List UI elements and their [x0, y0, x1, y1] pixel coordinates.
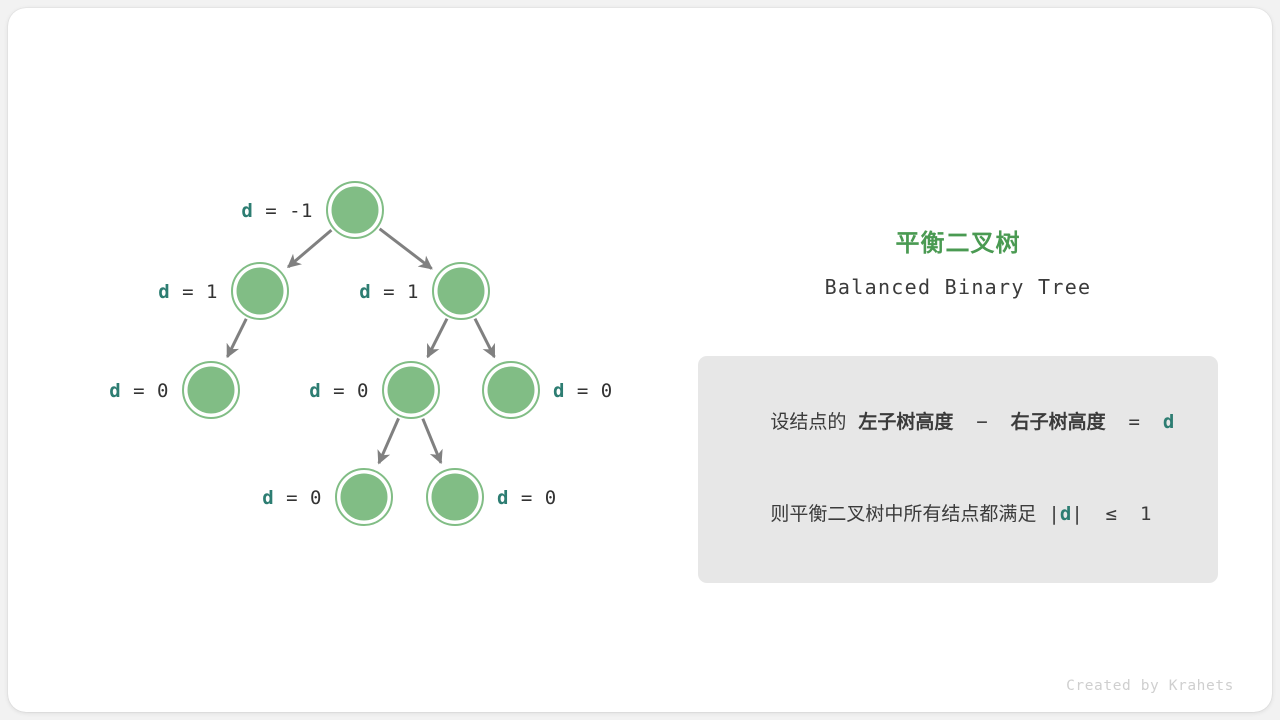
node-circle [432, 474, 479, 521]
minus-operator: − [953, 411, 1010, 433]
node-label-var: d [262, 487, 274, 509]
tree-node [336, 469, 392, 525]
node-label-var: d [553, 380, 565, 402]
tree-node [383, 362, 439, 418]
info-panel: 平衡二叉树 Balanced Binary Tree 设结点的 左子树高度 − … [698, 223, 1218, 583]
node-circle [341, 474, 388, 521]
node-circle [488, 367, 535, 414]
tree-edge [475, 319, 494, 357]
tree-nodes [183, 182, 539, 525]
node-label-value: = 0 [321, 380, 369, 402]
credit-footer: Created by Krahets [1066, 678, 1234, 694]
tree-edge [380, 229, 432, 269]
right-subtree-height-term: 右子树高度 [1011, 411, 1106, 433]
node-balance-label: d = 0 [262, 487, 322, 509]
balance-factor-var: d [1163, 411, 1174, 433]
diagram-card: d = -1d = 1d = 1d = 0d = 0d = 0d = 0d = … [8, 8, 1272, 712]
node-balance-label: d = 1 [158, 281, 218, 303]
node-label-var: d [158, 281, 170, 303]
page-title-en: Balanced Binary Tree [698, 275, 1218, 299]
tree-node [483, 362, 539, 418]
tree-node [433, 263, 489, 319]
node-balance-label: d = 0 [553, 380, 613, 402]
node-balance-label: d = 1 [359, 281, 419, 303]
definition-prefix: 设结点的 [770, 411, 858, 433]
tree-node [183, 362, 239, 418]
tree-edge [423, 419, 441, 463]
node-label-var: d [109, 380, 121, 402]
page-title-zh: 平衡二叉树 [698, 223, 1218, 258]
left-subtree-height-term: 左子树高度 [858, 411, 953, 433]
node-balance-label: d = 0 [109, 380, 169, 402]
node-label-value: = 0 [274, 487, 322, 509]
balance-factor-var: d [1060, 503, 1071, 525]
definition-line-2: 则平衡二叉树中所有结点都满足 |d| ≤ 1 [722, 468, 1194, 560]
node-balance-label: d = 0 [309, 380, 369, 402]
node-balance-label: d = 0 [497, 487, 557, 509]
node-label-var: d [309, 380, 321, 402]
abs-bar-open: | [1048, 503, 1059, 525]
node-label-value: = 0 [565, 380, 613, 402]
tree-edge [379, 418, 399, 463]
node-label-value: = 0 [509, 487, 557, 509]
definition-line-1: 设结点的 左子树高度 − 右子树高度 = d [722, 376, 1194, 468]
tree-node [327, 182, 383, 238]
node-circle [438, 268, 485, 315]
node-circle [388, 367, 435, 414]
node-circle [332, 187, 379, 234]
tree-edge [288, 230, 331, 267]
node-label-var: d [241, 200, 253, 222]
tree-node [427, 469, 483, 525]
tree-edge [428, 319, 447, 357]
tree-node-labels: d = -1d = 1d = 1d = 0d = 0d = 0d = 0d = … [109, 200, 612, 509]
node-label-value: = 1 [371, 281, 419, 303]
tree-node [232, 263, 288, 319]
node-label-var: d [497, 487, 509, 509]
equals-operator: = [1106, 411, 1163, 433]
abs-bar-close: | [1071, 503, 1082, 525]
node-balance-label: d = -1 [241, 200, 313, 222]
definition-box: 设结点的 左子树高度 − 右子树高度 = d 则平衡二叉树中所有结点都满足 |d… [698, 356, 1218, 583]
node-label-var: d [359, 281, 371, 303]
node-label-value: = -1 [253, 200, 313, 222]
tree-edge [227, 319, 246, 357]
node-label-value: = 0 [121, 380, 169, 402]
less-equal-operator: ≤ [1083, 503, 1140, 525]
condition-value: 1 [1140, 503, 1151, 525]
node-circle [237, 268, 284, 315]
node-circle [188, 367, 235, 414]
condition-prefix: 则平衡二叉树中所有结点都满足 [770, 503, 1048, 525]
node-label-value: = 1 [170, 281, 218, 303]
